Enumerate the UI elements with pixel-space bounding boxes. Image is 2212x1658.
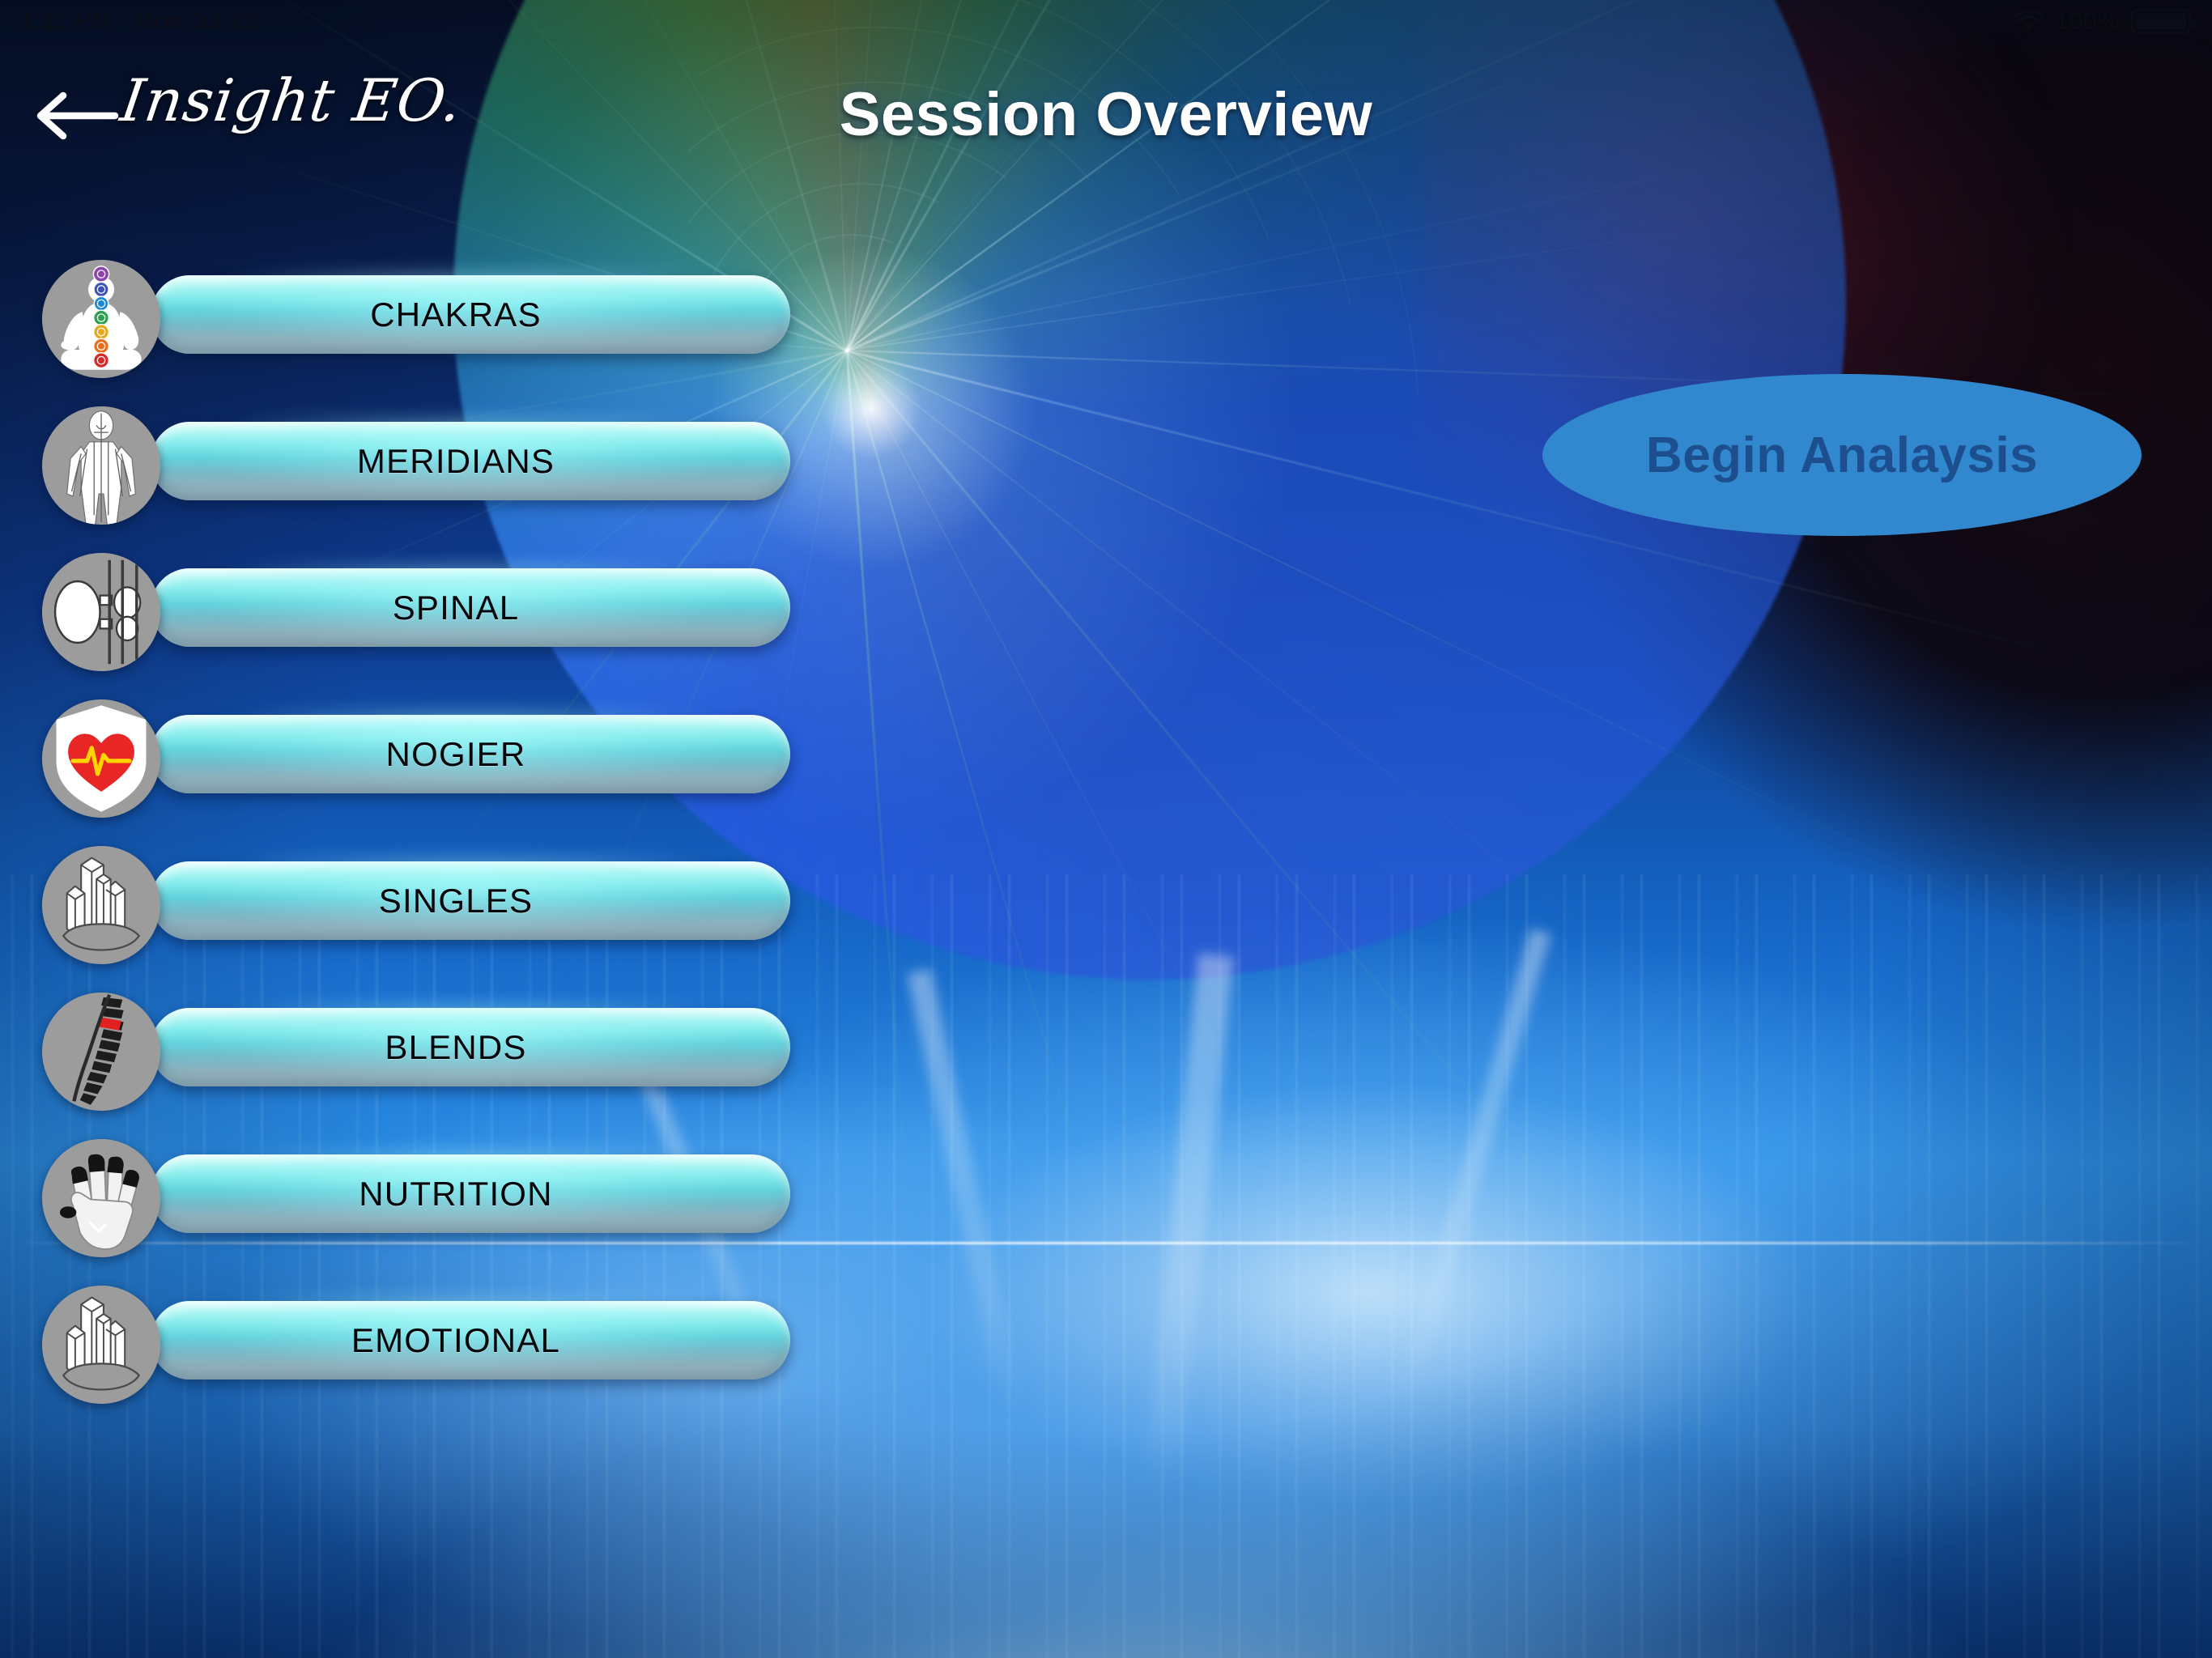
menu-item-button[interactable]: NUTRITION <box>151 1154 790 1233</box>
heart-shield-icon[interactable] <box>42 699 160 818</box>
date-label: Mon Jul 22 <box>134 6 258 36</box>
menu-item-button[interactable]: MERIDIANS <box>151 422 790 500</box>
meridian-body-icon[interactable] <box>42 406 160 525</box>
menu-item-meridians[interactable]: MERIDIANS <box>0 397 810 534</box>
app-screen: 1:11 PM Mon Jul 22 100% Insight EO. Sess… <box>0 0 2212 1658</box>
menu-item-nogier[interactable]: NOGIER <box>0 690 810 827</box>
menu-item-label: EMOTIONAL <box>351 1321 560 1360</box>
begin-analysis-label: Begin Analaysis <box>1646 427 2038 484</box>
menu-item-button[interactable]: BLENDS <box>151 1008 790 1086</box>
status-bar-right: 100% <box>2014 6 2212 36</box>
menu-item-chakras[interactable]: CHAKRAS <box>0 250 810 388</box>
page-title: Session Overview <box>0 79 2212 150</box>
chakra-figure-icon[interactable] <box>42 260 160 378</box>
menu-item-nutrition[interactable]: NUTRITION <box>0 1129 810 1267</box>
menu-item-label: SPINAL <box>393 589 520 627</box>
menu-item-label: NOGIER <box>386 735 526 774</box>
menu-item-label: BLENDS <box>385 1028 526 1067</box>
spine-icon[interactable] <box>42 993 160 1111</box>
menu-item-label: SINGLES <box>379 882 533 920</box>
status-bar: 1:11 PM Mon Jul 22 100% <box>0 0 2212 42</box>
menu-item-emotional[interactable]: EMOTIONAL <box>0 1276 810 1414</box>
menu-item-button[interactable]: SINGLES <box>151 861 790 940</box>
menu-item-button[interactable]: NOGIER <box>151 715 790 793</box>
battery-percent-label: 100% <box>2055 6 2120 36</box>
menu-item-button[interactable]: SPINAL <box>151 568 790 647</box>
hand-reflexology-icon[interactable] <box>42 1139 160 1257</box>
menu-item-spinal[interactable]: SPINAL <box>0 543 810 681</box>
vertebra-icon[interactable] <box>42 553 160 671</box>
begin-analysis-button[interactable]: Begin Analaysis <box>1542 374 2142 536</box>
menu-item-label: CHAKRAS <box>370 295 541 334</box>
menu-item-button[interactable]: EMOTIONAL <box>151 1301 790 1380</box>
crystal-cluster-icon[interactable] <box>42 1286 160 1404</box>
battery-full-icon <box>2131 9 2191 34</box>
menu-item-label: NUTRITION <box>359 1175 552 1214</box>
menu-item-button[interactable]: CHAKRAS <box>151 275 790 354</box>
status-bar-left: 1:11 PM Mon Jul 22 <box>0 6 257 36</box>
crystal-cluster-icon[interactable] <box>42 846 160 964</box>
wifi-icon <box>2014 11 2044 32</box>
menu-item-singles[interactable]: SINGLES <box>0 836 810 974</box>
session-menu-list: CHAKRAS <box>0 0 891 1658</box>
menu-item-blends[interactable]: BLENDS <box>0 983 810 1120</box>
menu-item-label: MERIDIANS <box>357 442 555 481</box>
clock: 1:11 PM <box>19 6 113 36</box>
